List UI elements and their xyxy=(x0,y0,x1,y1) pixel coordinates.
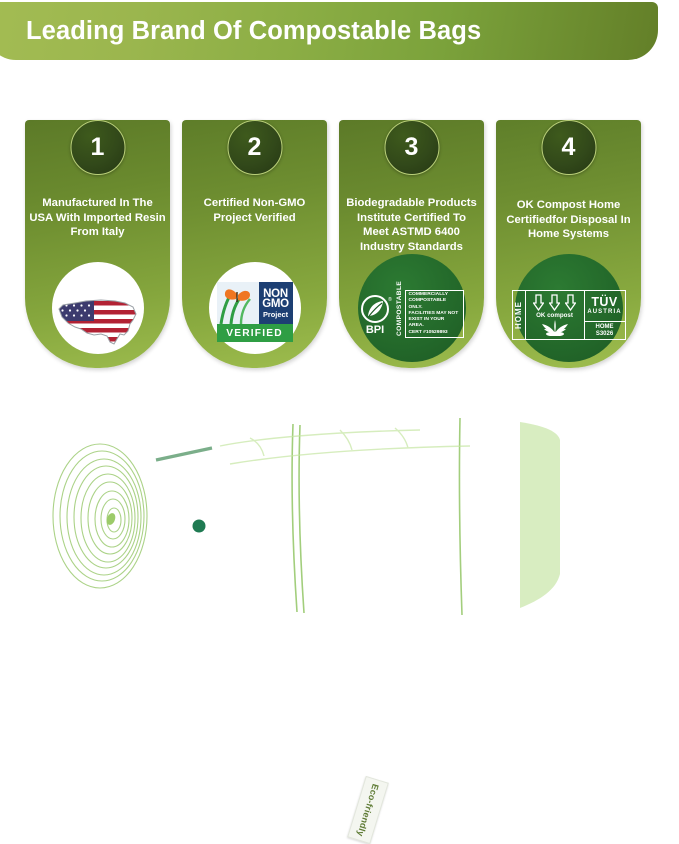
header-banner: Leading Brand Of Compostable Bags xyxy=(0,2,658,60)
feature-card-bpi-certified: 3 Biodegradable Products Institute Certi… xyxy=(339,120,484,368)
tuv-ok-compost-home-icon: HOME OK compost xyxy=(512,290,626,340)
gmo-line-project: Project xyxy=(263,311,288,318)
usa-flag-map-icon xyxy=(55,292,141,352)
feature-card-list: 1 Manufactured In The USA With Imported … xyxy=(0,96,679,368)
non-gmo-verified-icon: NON GMO Project VERIFIED xyxy=(217,282,293,342)
bpi-compostable-vertical-text: COMPOSTABLE xyxy=(396,292,403,336)
tuv-cert-code: HOME S3026 xyxy=(585,322,625,339)
bpi-fineprint-line: CERT #10529893 xyxy=(409,330,460,336)
right-edge-shade xyxy=(520,422,560,608)
card-description: Biodegradable Products Institute Certifi… xyxy=(343,196,480,254)
feature-card-non-gmo: 2 Certified Non-GMO Project Verified xyxy=(182,120,327,368)
eco-friendly-label: Eco-friendly xyxy=(347,776,389,844)
tuv-brand: TÜV AUSTRIA xyxy=(585,291,625,322)
tuv-home-bar: HOME xyxy=(513,291,526,339)
tuv-home-label: HOME xyxy=(514,301,523,329)
bpi-fineprint-line: COMPOSTABLE ONLY. xyxy=(409,298,460,311)
card-description: OK Compost Home Certifiedfor Disposal In… xyxy=(500,198,637,242)
svg-text:BPI: BPI xyxy=(365,324,383,336)
vent-dot xyxy=(193,520,206,533)
bpi-compostable-icon: BPI ® COMPOSTABLE COMMERCIALLY COMPOSTAB… xyxy=(360,290,464,338)
tuv-brand-name: TÜV xyxy=(591,297,617,308)
feature-card-usa-made: 1 Manufactured In The USA With Imported … xyxy=(25,120,170,368)
product-photo: Eco-friendly xyxy=(0,368,679,667)
svg-text:®: ® xyxy=(388,296,392,303)
feature-card-ok-compost-home: 4 OK Compost Home Certifiedfor Disposal … xyxy=(496,120,641,368)
card-number-badge: 3 xyxy=(384,120,439,175)
card-description: Manufactured In The USA With Imported Re… xyxy=(29,196,166,240)
page-title: Leading Brand Of Compostable Bags xyxy=(26,17,481,46)
bpi-mark: BPI ® xyxy=(360,292,394,336)
tuv-brand-panel: TÜV AUSTRIA HOME S3026 xyxy=(585,291,625,339)
gmo-verified-banner: VERIFIED xyxy=(217,324,293,342)
down-arrows-icon xyxy=(533,294,576,311)
card-number-badge: 1 xyxy=(70,120,125,175)
eco-friendly-text: Eco-friendly xyxy=(355,783,380,838)
bpi-fineprint-line: EXIST IN YOUR AREA. xyxy=(409,317,460,330)
butterfly-grass-icon xyxy=(217,282,259,324)
card-number-badge: 4 xyxy=(541,120,596,175)
card-number-badge: 2 xyxy=(227,120,282,175)
tuv-brand-country: AUSTRIA xyxy=(587,309,621,315)
tuv-code-line2: S3026 xyxy=(596,331,613,338)
tuv-ok-compost-label: OK compost xyxy=(536,312,573,319)
sprout-icon xyxy=(530,320,580,336)
roll-end-face xyxy=(46,438,150,594)
tuv-compost-panel: OK compost xyxy=(526,291,585,339)
bpi-fineprint: COMMERCIALLY COMPOSTABLE ONLY. FACILITIE… xyxy=(405,290,464,338)
card-description: Certified Non-GMO Project Verified xyxy=(186,196,323,225)
